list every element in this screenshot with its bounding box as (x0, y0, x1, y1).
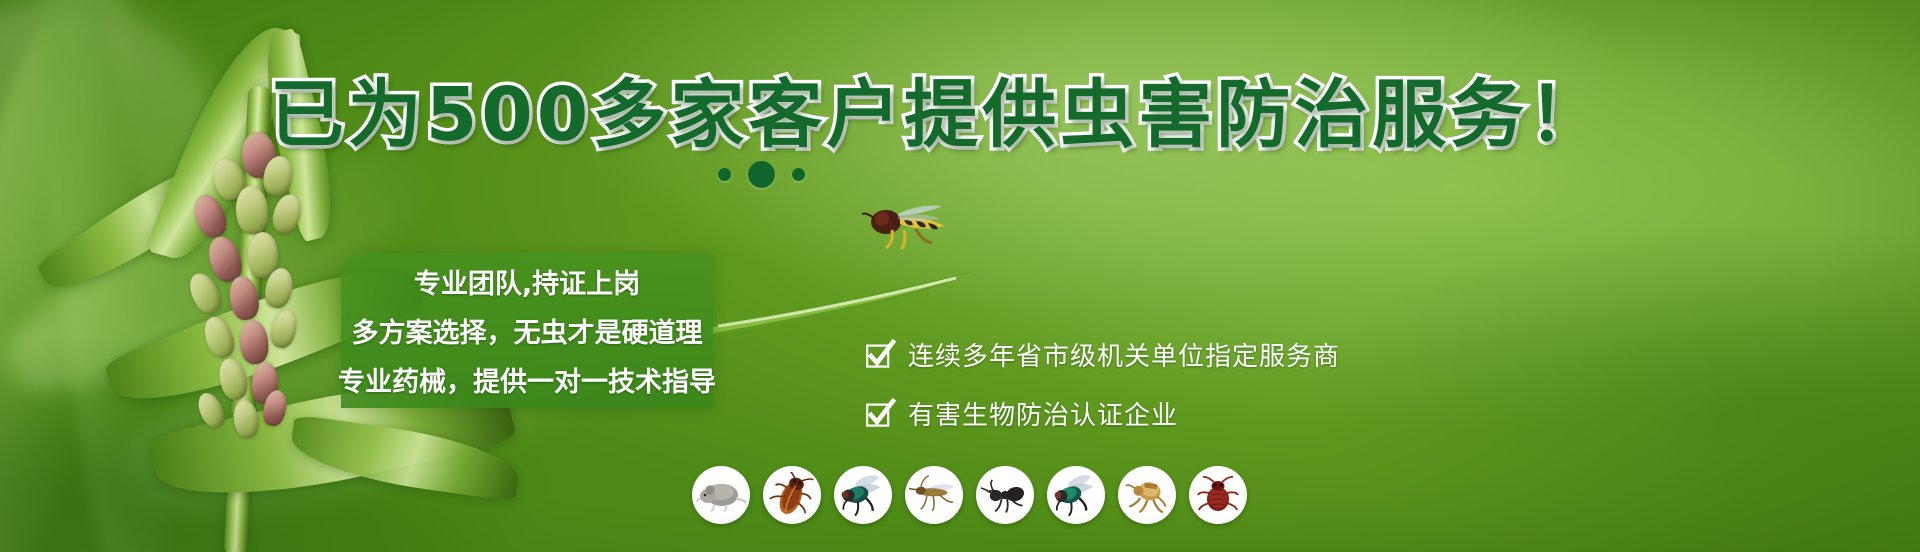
bedbug-icon (1194, 473, 1242, 517)
checkbox-checked-icon (866, 341, 894, 369)
panel-line-2: 多方案选择，无虫才是硬道理 (352, 311, 703, 350)
panel-line-3: 专业药械，提供一对一技术指导 (338, 360, 716, 399)
pest-circle-bedbug[interactable] (1189, 466, 1247, 524)
mouse-icon (696, 475, 746, 515)
dot-small-icon (718, 168, 731, 181)
checkbox-checked-icon (866, 400, 894, 428)
list-item-label: 有害生物防治认证企业 (908, 395, 1178, 432)
pest-circle-fly[interactable] (834, 466, 892, 524)
blowfly-icon (1051, 473, 1101, 517)
pest-circle-mouse[interactable] (692, 466, 750, 524)
list-item-label: 连续多年省市级机关单位指定服务商 (908, 336, 1340, 373)
page-title: 已为500多家客户提供虫害防治服务！ (0, 78, 1898, 152)
list-item: 有害生物防治认证企业 (866, 395, 1340, 432)
selling-points-panel: 专业团队,持证上岗 多方案选择，无虫才是硬道理 专业药械，提供一对一技术指导 (341, 253, 713, 408)
decorative-dots (718, 161, 805, 188)
panel-line-1: 专业团队,持证上岗 (414, 262, 640, 301)
pest-control-promo-banner: 已为500多家客户提供虫害防治服务！ 专业团队,持证上岗 多方案选择，无虫才是硬… (0, 0, 1920, 552)
mosquito-icon (909, 473, 959, 517)
dot-small-icon (792, 168, 805, 181)
headline-text: 已为500多家客户提供虫害防治服务！ (270, 72, 1606, 158)
pest-circle-cockroach[interactable] (763, 466, 821, 524)
flea-icon (1123, 473, 1171, 517)
ant-icon (981, 473, 1029, 517)
pest-circle-blowfly[interactable] (1047, 466, 1105, 524)
pest-circle-mosquito[interactable] (905, 466, 963, 524)
cockroach-icon (768, 472, 816, 518)
dot-large-icon (748, 161, 775, 188)
fly-icon (838, 473, 888, 517)
pest-icon-row (692, 466, 1247, 524)
list-item: 连续多年省市级机关单位指定服务商 (866, 336, 1340, 373)
credentials-list: 连续多年省市级机关单位指定服务商 有害生物防治认证企业 (866, 336, 1340, 432)
pest-circle-flea[interactable] (1118, 466, 1176, 524)
pest-circle-ant[interactable] (976, 466, 1034, 524)
